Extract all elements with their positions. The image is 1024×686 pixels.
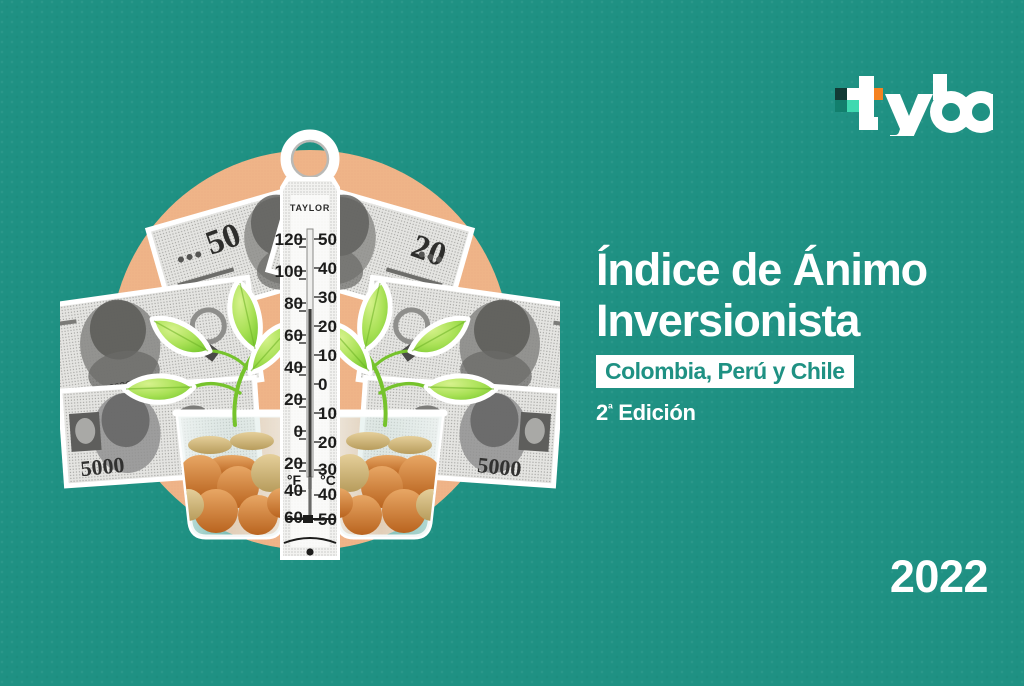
- celsius-label: °C: [320, 472, 336, 488]
- fahrenheit-label: °F: [287, 472, 302, 488]
- thermometer: TAYLOR 120 100 80 60 40 20 0 20 40 60: [275, 135, 340, 560]
- svg-text:5000: 5000: [476, 452, 522, 481]
- coin-jar-left: [172, 413, 298, 541]
- edition-ordinal: ª: [608, 401, 613, 416]
- svg-text:5000: 5000: [79, 452, 125, 481]
- edition-label: 2ª Edición: [596, 400, 996, 426]
- subtitle-countries: Colombia, Perú y Chile: [605, 359, 845, 383]
- svg-text:TAYLOR: TAYLOR: [290, 203, 330, 213]
- page-title-line-2: Inversionista: [596, 295, 996, 346]
- collage-illustration: 50 20: [60, 125, 560, 575]
- year-label: 2022: [890, 551, 988, 603]
- tyba-logo[interactable]: [833, 74, 993, 136]
- title-block: Índice de Ánimo Inversionista Colombia, …: [596, 244, 996, 426]
- page-title-line-1: Índice de Ánimo: [596, 244, 996, 295]
- cover-page: 50 20: [0, 0, 1024, 686]
- edition-number: 2: [596, 400, 608, 425]
- coin-jar-right: [322, 413, 448, 541]
- edition-word: Edición: [618, 400, 695, 425]
- subtitle-highlight-box: Colombia, Perú y Chile: [596, 355, 854, 388]
